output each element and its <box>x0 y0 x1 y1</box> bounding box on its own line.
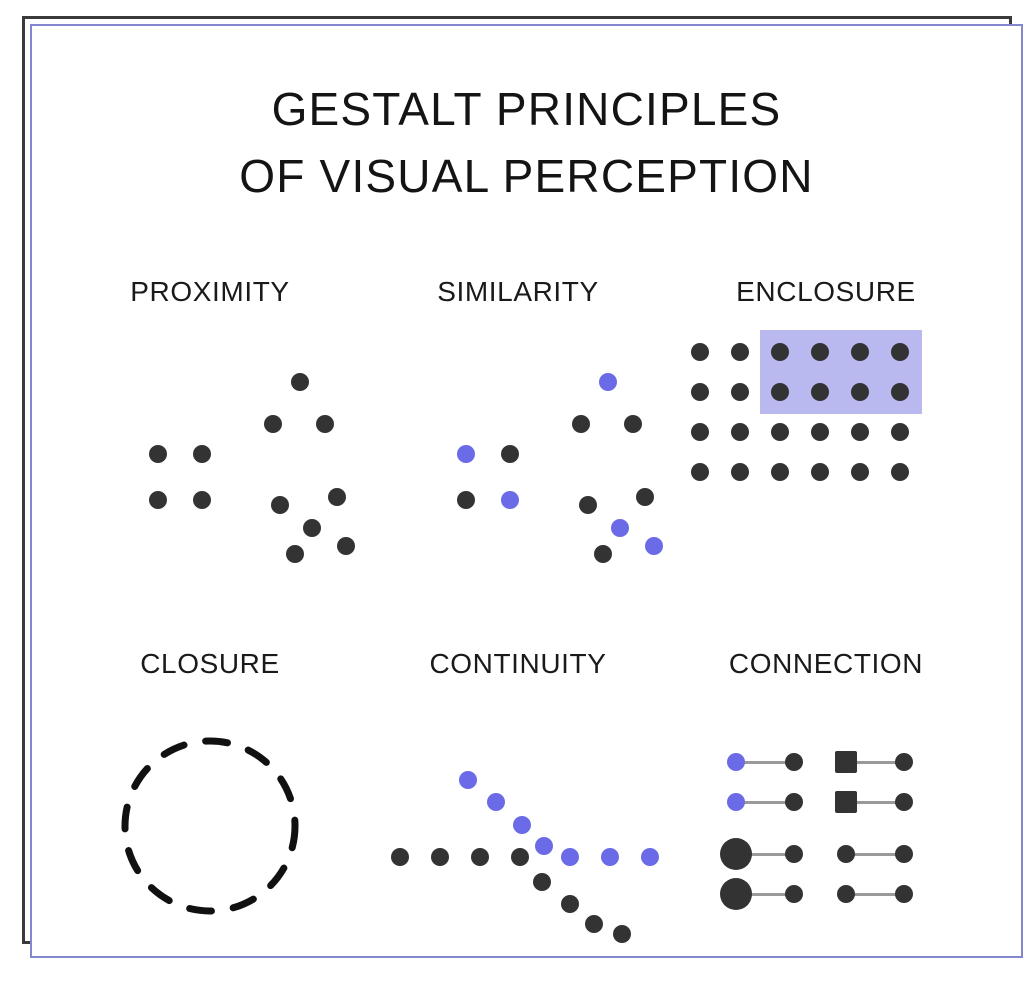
connection-square-left <box>835 751 857 773</box>
proximity-dot <box>303 519 321 537</box>
continuity-dot <box>613 925 631 943</box>
enclosure-dot <box>891 463 909 481</box>
connection-dot-left <box>727 793 745 811</box>
similarity-dot <box>579 496 597 514</box>
proximity-dot <box>328 488 346 506</box>
continuity-dot <box>641 848 659 866</box>
proximity-dot <box>264 415 282 433</box>
panel-proximity[interactable]: PROXIMITY <box>60 276 360 576</box>
connection-dot-right <box>785 753 803 771</box>
closure-dashed-circle <box>60 694 360 948</box>
continuity-dot <box>533 873 551 891</box>
proximity-dot <box>193 445 211 463</box>
connection-square-left <box>835 791 857 813</box>
enclosure-dot <box>771 423 789 441</box>
panel-connection[interactable]: CONNECTION <box>676 648 976 948</box>
enclosure-dot <box>891 423 909 441</box>
enclosure-dot <box>731 343 749 361</box>
panel-closure[interactable]: CLOSURE <box>60 648 360 948</box>
poster-canvas: GESTALT PRINCIPLES OF VISUAL PERCEPTION … <box>32 26 1021 956</box>
proximity-dot <box>316 415 334 433</box>
enclosure-dot <box>811 343 829 361</box>
enclosure-dot <box>851 383 869 401</box>
similarity-dot <box>457 491 475 509</box>
proximity-dot <box>149 491 167 509</box>
enclosure-dot <box>771 343 789 361</box>
connection-dot-left <box>720 838 752 870</box>
similarity-dot <box>636 488 654 506</box>
proximity-dot <box>291 373 309 391</box>
proximity-dot <box>271 496 289 514</box>
continuity-dot <box>431 848 449 866</box>
panel-title-continuity: CONTINUITY <box>368 648 668 680</box>
connection-dot-right <box>895 753 913 771</box>
connection-dot-left <box>837 885 855 903</box>
similarity-dot <box>501 445 519 463</box>
enclosure-dot <box>851 463 869 481</box>
enclosure-dot <box>771 383 789 401</box>
continuity-dot <box>585 915 603 933</box>
continuity-dot <box>391 848 409 866</box>
continuity-dot <box>511 848 529 866</box>
enclosure-dot <box>731 463 749 481</box>
proximity-dot-field <box>60 322 360 576</box>
panel-title-closure: CLOSURE <box>60 648 360 680</box>
continuity-dot <box>513 816 531 834</box>
similarity-dot <box>611 519 629 537</box>
similarity-dot-field <box>368 322 668 576</box>
enclosure-dot <box>811 463 829 481</box>
continuity-dot <box>487 793 505 811</box>
connection-dot-left <box>837 845 855 863</box>
similarity-dot <box>599 373 617 391</box>
enclosure-dot <box>851 423 869 441</box>
enclosure-dot <box>691 423 709 441</box>
continuity-dot <box>561 848 579 866</box>
poster-root: GESTALT PRINCIPLES OF VISUAL PERCEPTION … <box>0 0 1036 992</box>
similarity-dot <box>457 445 475 463</box>
continuity-dot-paths <box>368 694 668 948</box>
panel-similarity[interactable]: SIMILARITY <box>368 276 668 576</box>
panel-title-connection: CONNECTION <box>676 648 976 680</box>
enclosure-dot <box>851 343 869 361</box>
similarity-dot <box>645 537 663 555</box>
enclosure-dot <box>731 383 749 401</box>
connection-dot-left <box>727 753 745 771</box>
proximity-dot <box>286 545 304 563</box>
proximity-dot <box>337 537 355 555</box>
similarity-dot <box>594 545 612 563</box>
similarity-dot <box>624 415 642 433</box>
continuity-dot <box>561 895 579 913</box>
similarity-dot <box>501 491 519 509</box>
connection-dot-left <box>720 878 752 910</box>
enclosure-dot <box>771 463 789 481</box>
enclosure-dot <box>691 343 709 361</box>
panel-title-proximity: PROXIMITY <box>60 276 360 308</box>
title-line-1: GESTALT PRINCIPLES <box>32 76 1021 143</box>
continuity-dot <box>471 848 489 866</box>
title-line-2: OF VISUAL PERCEPTION <box>32 143 1021 210</box>
continuity-dot <box>535 837 553 855</box>
connection-dot-right <box>895 845 913 863</box>
dashed-circle-path <box>125 741 295 911</box>
panel-enclosure[interactable]: ENCLOSURE <box>676 276 976 576</box>
proximity-dot <box>149 445 167 463</box>
panel-title-enclosure: ENCLOSURE <box>676 276 976 308</box>
connection-dot-right <box>895 885 913 903</box>
enclosure-dot <box>891 343 909 361</box>
connection-pairs <box>676 694 976 948</box>
panel-continuity[interactable]: CONTINUITY <box>368 648 668 948</box>
connection-dot-right <box>785 793 803 811</box>
enclosure-dot <box>691 383 709 401</box>
closure-circle-svg <box>60 694 360 948</box>
connection-dot-right <box>785 845 803 863</box>
similarity-dot <box>572 415 590 433</box>
panel-title-similarity: SIMILARITY <box>368 276 668 308</box>
enclosure-dot <box>891 383 909 401</box>
connection-dot-right <box>785 885 803 903</box>
proximity-dot <box>193 491 211 509</box>
page-title: GESTALT PRINCIPLES OF VISUAL PERCEPTION <box>32 76 1021 209</box>
enclosure-dot <box>731 423 749 441</box>
enclosure-dot <box>811 423 829 441</box>
connection-dot-right <box>895 793 913 811</box>
continuity-dot <box>459 771 477 789</box>
enclosure-dot <box>811 383 829 401</box>
enclosure-dot-grid <box>676 322 976 576</box>
continuity-dot <box>601 848 619 866</box>
enclosure-dot <box>691 463 709 481</box>
